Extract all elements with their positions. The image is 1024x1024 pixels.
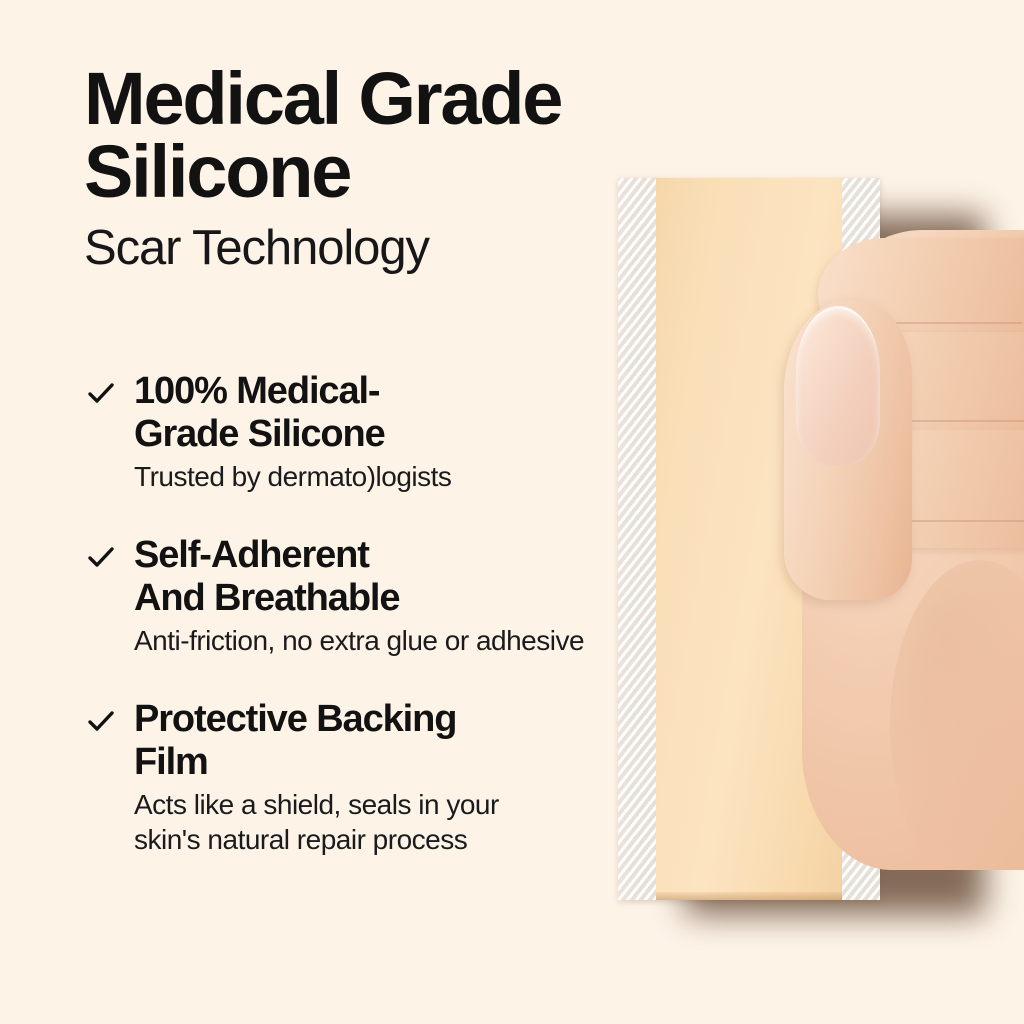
feature-description: Anti-friction, no extra glue or adhesive bbox=[134, 623, 589, 658]
feature-title: 100% Medical- Grade Silicone bbox=[134, 370, 644, 455]
page-subtitle: Scar Technology bbox=[84, 223, 684, 274]
feature-item: 100% Medical- Grade Silicone Trusted by … bbox=[84, 370, 644, 494]
thumbnail bbox=[796, 306, 880, 466]
feature-list: 100% Medical- Grade Silicone Trusted by … bbox=[84, 370, 644, 857]
feature-description: Trusted by dermato)logists bbox=[134, 459, 644, 494]
feature-title: Self-Adherent And Breathable bbox=[134, 534, 644, 619]
checkmark-icon bbox=[86, 378, 116, 408]
feature-item: Protective Backing Film Acts like a shie… bbox=[84, 698, 644, 857]
feature-item: Self-Adherent And Breathable Anti-fricti… bbox=[84, 534, 644, 658]
product-infographic: Medical Grade Silicone Scar Technology 1… bbox=[0, 0, 1024, 1024]
checkmark-icon bbox=[86, 542, 116, 572]
headline-block: Medical Grade Silicone Scar Technology bbox=[84, 62, 684, 274]
checkmark-icon bbox=[86, 706, 116, 736]
feature-title: Protective Backing Film bbox=[134, 698, 644, 783]
feature-description: Acts like a shield, seals in your skin's… bbox=[134, 787, 644, 857]
page-title: Medical Grade Silicone bbox=[84, 62, 684, 209]
